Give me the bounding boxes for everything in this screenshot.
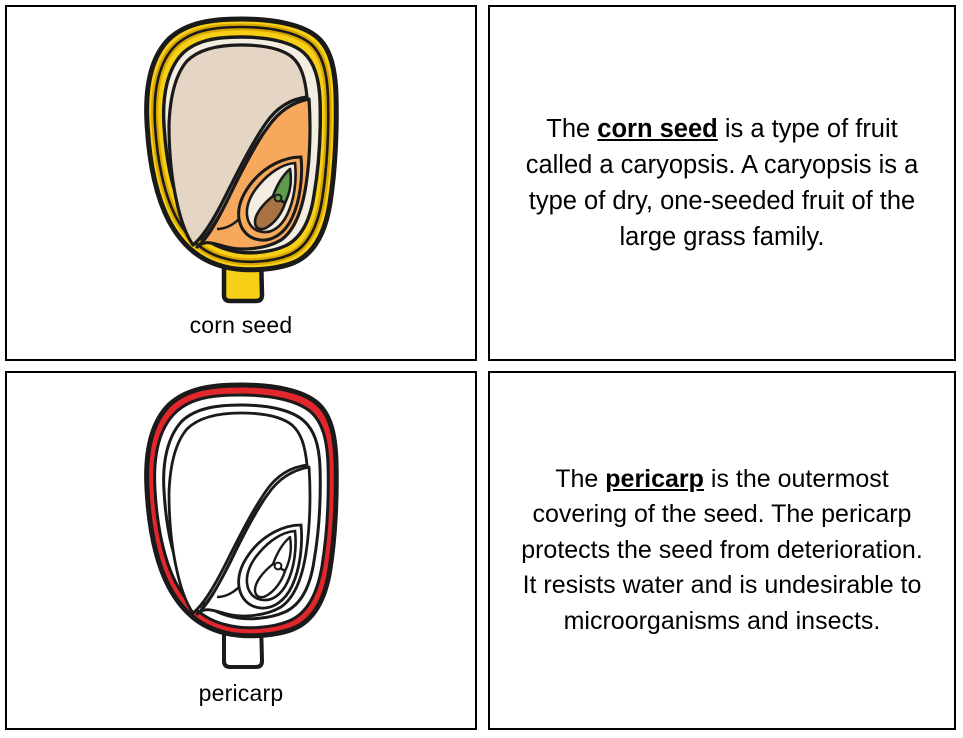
definition-text: The corn seed is a type of fruit called … bbox=[516, 111, 928, 256]
definition-term: corn seed bbox=[597, 115, 717, 143]
definition-term: pericarp bbox=[605, 465, 704, 493]
embryo-node bbox=[275, 195, 282, 202]
card-corn-seed-definition[interactable]: The corn seed is a type of fruit called … bbox=[488, 5, 956, 361]
embryo-node bbox=[275, 563, 282, 570]
pericarp-diagram bbox=[125, 377, 357, 672]
definition-text-before: The bbox=[546, 115, 597, 143]
definition-text-before: The bbox=[555, 465, 605, 493]
picture-card-label: corn seed bbox=[7, 312, 475, 339]
card-pericarp-picture[interactable]: pericarp bbox=[5, 371, 477, 730]
definition-text: The pericarp is the outermost covering o… bbox=[516, 462, 928, 640]
card-pericarp-definition[interactable]: The pericarp is the outermost covering o… bbox=[488, 371, 956, 730]
pericarp-figure-wrap bbox=[7, 377, 475, 672]
corn-seed-figure-wrap bbox=[7, 11, 475, 306]
card-corn-seed-picture[interactable]: corn seed bbox=[5, 5, 477, 361]
corn-seed-diagram bbox=[125, 11, 357, 306]
nomenclature-card-sheet: corn seed The corn seed is a type of fru… bbox=[0, 0, 963, 738]
picture-card-label: pericarp bbox=[7, 680, 475, 707]
